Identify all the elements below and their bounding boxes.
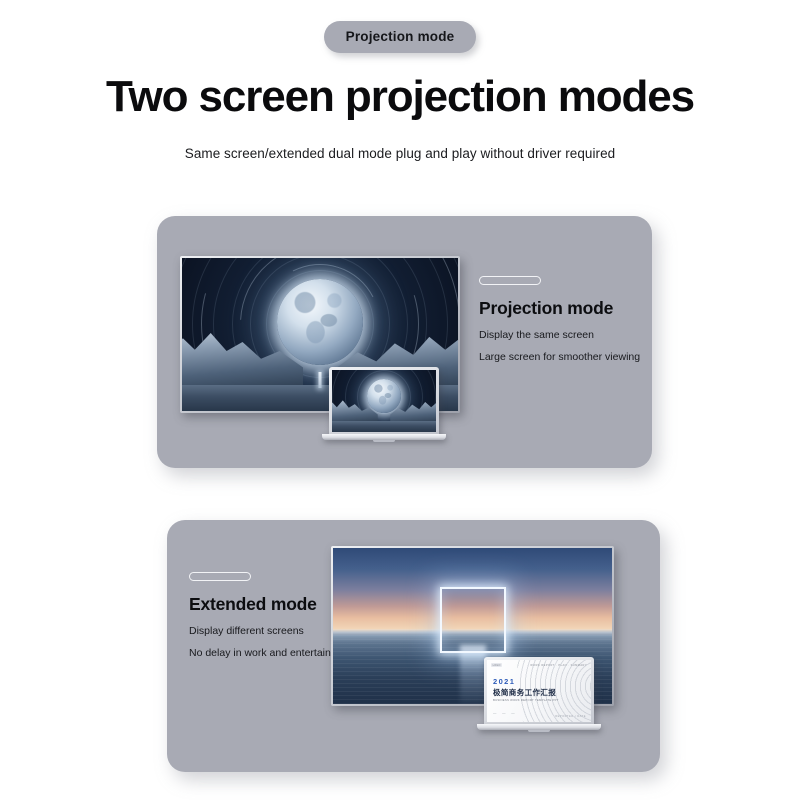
pill-marker-icon bbox=[189, 572, 251, 581]
slide-topbar: LOGO WORK REPORT · PLAN · SUMMARY bbox=[491, 663, 587, 667]
panel-extended-mode: Extended mode Display different screens … bbox=[167, 520, 660, 772]
slide-nav: WORK REPORT · PLAN · SUMMARY bbox=[530, 664, 587, 667]
promo-page: Projection mode Two screen projection mo… bbox=[0, 0, 800, 800]
laptop-lid bbox=[329, 367, 439, 434]
info-extended-mode: Extended mode Display different screens … bbox=[189, 572, 354, 670]
laptop-extended: LOGO WORK REPORT · PLAN · SUMMARY 2021 极… bbox=[484, 657, 594, 732]
page-title: Two screen projection modes bbox=[0, 72, 800, 121]
mode-line: No delay in work and entertainment bbox=[189, 648, 354, 659]
info-projection-mode: Projection mode Display the same screen … bbox=[479, 276, 640, 374]
mode-line: Display different screens bbox=[189, 626, 354, 637]
slide-subtitle: BUSINESS WORK REPORT TEMPLATE PPT bbox=[493, 698, 559, 702]
slide-dots: — — — bbox=[493, 711, 517, 715]
water-reflection bbox=[460, 645, 486, 704]
laptop-screen-presentation: LOGO WORK REPORT · PLAN · SUMMARY 2021 极… bbox=[487, 660, 591, 722]
slide-title: 极简商务工作汇报 bbox=[493, 687, 556, 698]
presentation-slide: LOGO WORK REPORT · PLAN · SUMMARY 2021 极… bbox=[487, 660, 591, 722]
mode-title: Projection mode bbox=[479, 298, 640, 319]
slide-year: 2021 bbox=[493, 677, 515, 686]
badge-row: Projection mode bbox=[0, 21, 800, 53]
laptop-screen-startrails bbox=[332, 370, 436, 432]
page-subtitle: Same screen/extended dual mode plug and … bbox=[0, 146, 800, 161]
section-badge: Projection mode bbox=[324, 21, 477, 53]
mode-line: Display the same screen bbox=[479, 330, 640, 341]
slide-logo-tag: LOGO bbox=[491, 663, 502, 667]
mode-line: Large screen for smoother viewing bbox=[479, 352, 640, 363]
figure-silhouette bbox=[319, 372, 322, 388]
panel-projection-mode: Projection mode Display the same screen … bbox=[157, 216, 652, 468]
snow-ground bbox=[332, 421, 436, 432]
pill-marker-icon bbox=[479, 276, 541, 285]
neon-square-icon bbox=[440, 587, 506, 653]
laptop-notch bbox=[528, 730, 550, 732]
moon-icon bbox=[277, 279, 363, 365]
moon-icon bbox=[367, 379, 401, 413]
laptop-lid: LOGO WORK REPORT · PLAN · SUMMARY 2021 极… bbox=[484, 657, 594, 724]
laptop-mirror bbox=[329, 367, 439, 442]
laptop-notch bbox=[373, 440, 395, 442]
mode-title: Extended mode bbox=[189, 594, 354, 615]
slide-footer: REPORTER / DATE bbox=[555, 715, 586, 718]
